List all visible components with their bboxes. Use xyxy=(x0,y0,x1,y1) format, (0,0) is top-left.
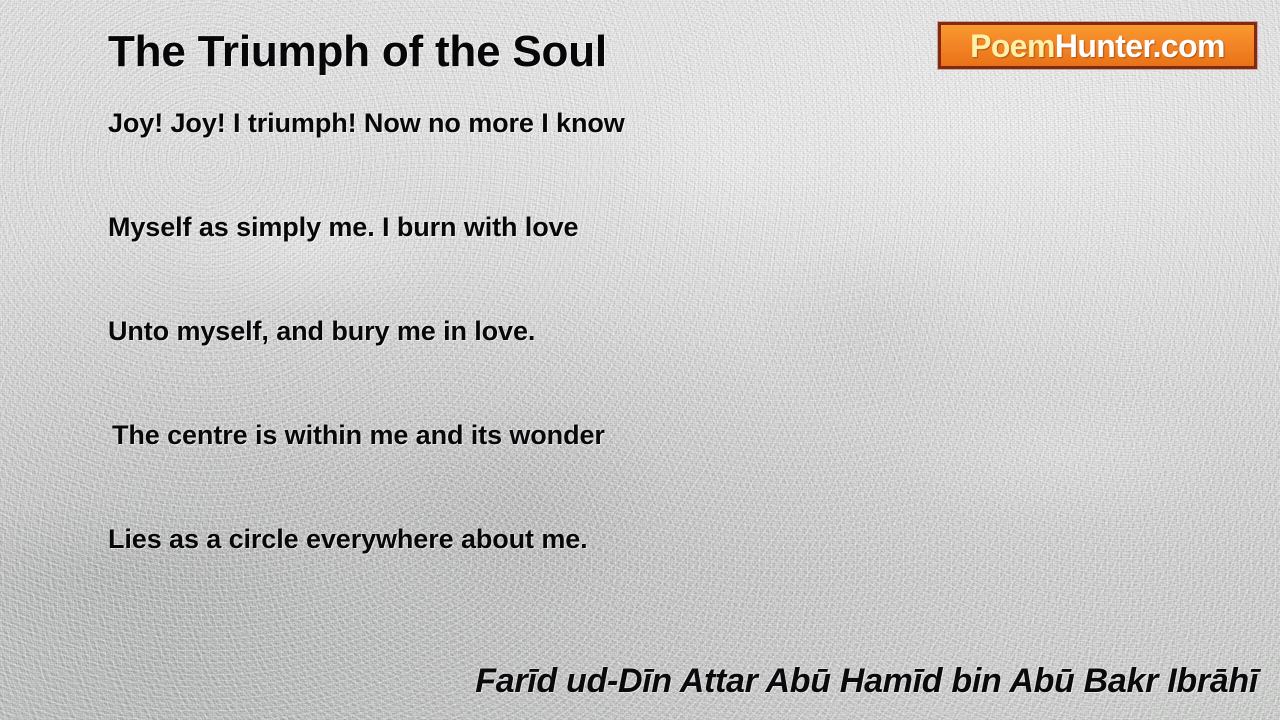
poem-line: The centre is within me and its wonder xyxy=(0,420,900,524)
site-logo-text-secondary: Hunter.com xyxy=(1055,28,1225,64)
poem-image-canvas: The Triumph of the Soul PoemHunter.com J… xyxy=(0,0,1280,720)
poem-line: Unto myself, and bury me in love. xyxy=(0,316,900,420)
poem-body: Joy! Joy! I triumph! Now no more I know … xyxy=(0,108,900,628)
site-logo-text-primary: Poem xyxy=(970,28,1055,64)
site-logo-inner-frame: PoemHunter.com xyxy=(939,23,1256,68)
site-logo-badge[interactable]: PoemHunter.com xyxy=(937,21,1258,70)
poem-line: Joy! Joy! I triumph! Now no more I know xyxy=(0,108,900,212)
page-title: The Triumph of the Soul xyxy=(108,27,607,77)
poem-line: Lies as a circle everywhere about me. xyxy=(0,524,900,628)
content-layer: The Triumph of the Soul PoemHunter.com J… xyxy=(0,0,1280,720)
poem-author: Farīd ud-Dīn Attar Abū Hamīd bin Abū Bak… xyxy=(0,662,1258,701)
poem-line: Myself as simply me. I burn with love xyxy=(0,212,900,316)
site-logo-text: PoemHunter.com xyxy=(970,30,1225,62)
